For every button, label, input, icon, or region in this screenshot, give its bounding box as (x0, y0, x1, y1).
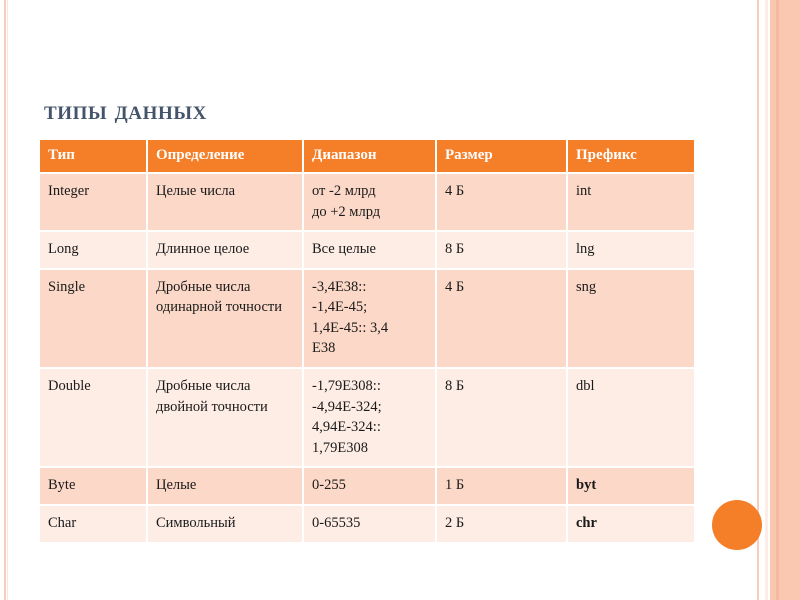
cell-size: 1 Б (437, 468, 566, 504)
cell-definition: Длинное целое (148, 232, 302, 268)
page-title: Типы данных (44, 95, 207, 126)
table-row: Double Дробные числа двойной точности -1… (40, 369, 694, 466)
table-header-row: Тип Определение Диапазон Размер Префикс (40, 140, 694, 172)
range-line: 0-65535 (312, 513, 427, 534)
cell-definition: Целые (148, 468, 302, 504)
cell-size: 4 Б (437, 270, 566, 367)
cell-prefix: dbl (568, 369, 694, 466)
cell-range: -1,79E308:: -4,94E-324; 4,94E-324:: 1,79… (304, 369, 435, 466)
table-row: Byte Целые 0-255 1 Б byt (40, 468, 694, 504)
left-edge-stripe-pale (7, 0, 8, 600)
right-edge-band (770, 0, 800, 600)
right-edge-band-line (776, 0, 779, 600)
range-line: -1,4E-45; (312, 297, 427, 318)
table-body: Integer Целые числа от -2 млрд до +2 млр… (40, 174, 694, 542)
range-line: до +2 млрд (312, 202, 427, 223)
range-line: 1,79E308 (312, 438, 427, 459)
cell-type: Integer (40, 174, 146, 230)
cell-type: Long (40, 232, 146, 268)
table-row: Single Дробные числа одинарной точности … (40, 270, 694, 367)
cell-definition: Целые числа (148, 174, 302, 230)
cell-range: 0-65535 (304, 506, 435, 542)
cell-prefix: lng (568, 232, 694, 268)
right-edge-pale-stripe (765, 0, 768, 600)
data-types-table: Тип Определение Диапазон Размер Префикс … (38, 138, 696, 544)
cell-size: 8 Б (437, 232, 566, 268)
range-line: от -2 млрд (312, 181, 427, 202)
column-header-prefix: Префикс (568, 140, 694, 172)
cell-range: от -2 млрд до +2 млрд (304, 174, 435, 230)
cell-definition: Дробные числа двойной точности (148, 369, 302, 466)
range-line: 4,94E-324:: (312, 417, 427, 438)
cell-definition: Дробные числа одинарной точности (148, 270, 302, 367)
cell-prefix: chr (568, 506, 694, 542)
table-row: Integer Целые числа от -2 млрд до +2 млр… (40, 174, 694, 230)
column-header-type: Тип (40, 140, 146, 172)
cell-range: -3,4E38:: -1,4E-45; 1,4E-45:: 3,4 E38 (304, 270, 435, 367)
cell-type: Single (40, 270, 146, 367)
cell-size: 8 Б (437, 369, 566, 466)
column-header-size: Размер (437, 140, 566, 172)
cell-prefix: int (568, 174, 694, 230)
range-line: -1,79E308:: (312, 376, 427, 397)
cell-definition: Символьный (148, 506, 302, 542)
column-header-definition: Определение (148, 140, 302, 172)
left-edge-stripe (4, 0, 6, 600)
cell-prefix: sng (568, 270, 694, 367)
orange-circle (712, 500, 762, 550)
range-line: 1,4E-45:: 3,4 (312, 318, 427, 339)
slide-canvas: Типы данных Тип Определение Диапазон Раз… (0, 0, 800, 600)
cell-prefix: byt (568, 468, 694, 504)
table-row: Long Длинное целое Все целые 8 Б lng (40, 232, 694, 268)
cell-type: Double (40, 369, 146, 466)
cell-type: Char (40, 506, 146, 542)
cell-size: 2 Б (437, 506, 566, 542)
cell-type: Byte (40, 468, 146, 504)
range-line: 0-255 (312, 475, 427, 496)
range-line: Все целые (312, 239, 427, 260)
cell-range: 0-255 (304, 468, 435, 504)
cell-range: Все целые (304, 232, 435, 268)
cell-size: 4 Б (437, 174, 566, 230)
range-line: -3,4E38:: (312, 277, 427, 298)
table-row: Char Символьный 0-65535 2 Б chr (40, 506, 694, 542)
range-line: E38 (312, 338, 427, 359)
range-line: -4,94E-324; (312, 397, 427, 418)
column-header-range: Диапазон (304, 140, 435, 172)
